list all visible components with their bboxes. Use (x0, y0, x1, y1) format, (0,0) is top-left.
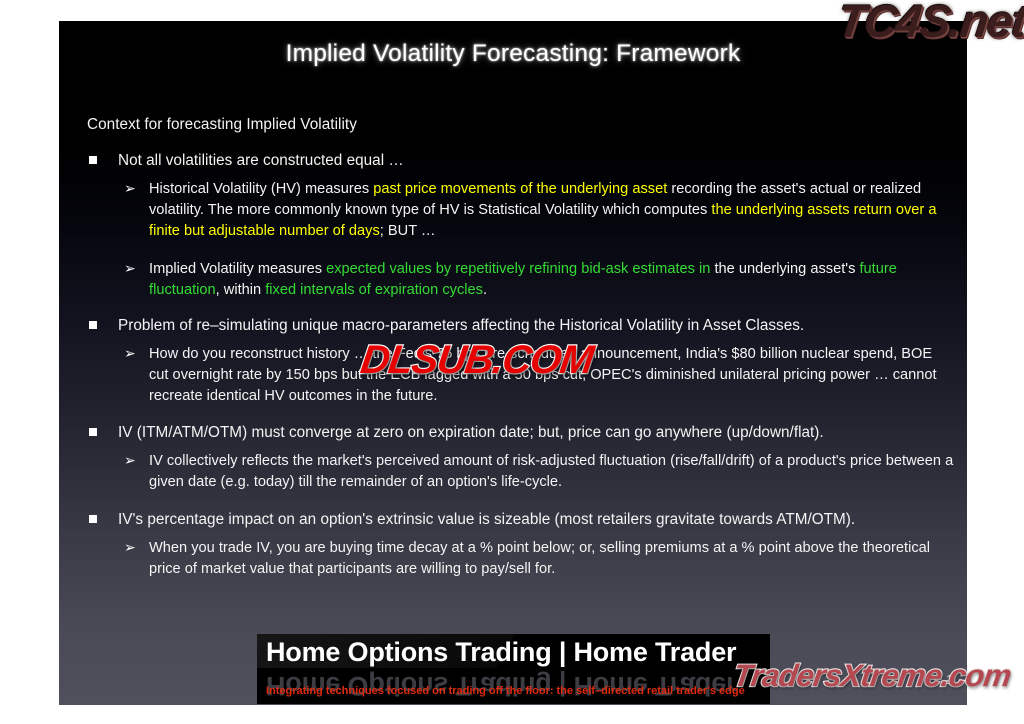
page-title: Implied Volatility Forecasting: Framewor… (59, 40, 967, 68)
bullet-level1-label: IV's percentage impact on an option's ex… (118, 511, 855, 528)
bullet-level2-reconstruct-history: ➢ How do you reconstruct history … the F… (87, 344, 955, 407)
slide-page: Implied Volatility Forecasting: Framewor… (0, 0, 1024, 724)
bullet-level1-iv-converge: IV (ITM/ATM/OTM) must converge at zero o… (87, 423, 955, 443)
bullet-level1-label: Problem of re–simulating unique macro-pa… (118, 317, 804, 334)
bullet-level2-implied-volatility: ➢ Implied Volatility measures expected v… (87, 259, 955, 301)
sub-text-part-2: the underlying asset's (710, 261, 859, 277)
sub-text-part-1: Implied Volatility measures (149, 261, 326, 277)
bullet-level1-problem-resimulating: Problem of re–simulating unique macro-pa… (87, 316, 955, 336)
footer-banner: Home Options Trading | Home Trader Home … (257, 634, 770, 704)
highlight-green-1: expected values by repetitively refining… (326, 261, 710, 277)
bullet-level2-iv-collectively: ➢ IV collectively reflects the market's … (87, 451, 955, 493)
arrow-bullet-icon: ➢ (124, 178, 136, 198)
arrow-bullet-icon: ➢ (124, 258, 136, 278)
lead-text: Context for forecasting Implied Volatili… (87, 115, 955, 134)
sub-text: When you trade IV, you are buying time d… (149, 540, 930, 577)
bullet-level1-label: IV (ITM/ATM/OTM) must converge at zero o… (118, 424, 824, 441)
highlight-yellow-1: past price movements of the underlying a… (373, 181, 667, 197)
bullet-level2-historical-volatility: ➢ Historical Volatility (HV) measures pa… (87, 179, 955, 242)
sub-text-part-4: . (483, 282, 487, 298)
sub-text-part-3: ; BUT … (380, 223, 436, 239)
slide-body: Context for forecasting Implied Volatili… (59, 101, 967, 621)
arrow-bullet-icon: ➢ (124, 537, 136, 557)
sub-text: How do you reconstruct history … the Fed… (149, 346, 937, 404)
highlight-green-3: fixed intervals of expiration cycles (265, 282, 483, 298)
bullet-level1-iv-percentage-impact: IV's percentage impact on an option's ex… (87, 510, 955, 530)
bullet-level2-when-you-trade-iv: ➢ When you trade IV, you are buying time… (87, 538, 955, 580)
bullet-level1-label: Not all volatilities are constructed equ… (118, 152, 404, 169)
square-bullet-icon (89, 428, 97, 436)
page-number: 1 (927, 673, 953, 687)
square-bullet-icon (89, 156, 97, 164)
banner-tagline: Integrating techniques focused on tradin… (266, 685, 770, 697)
square-bullet-icon (89, 321, 97, 329)
sub-text: IV collectively reflects the market's pe… (149, 453, 953, 490)
slide-canvas: Implied Volatility Forecasting: Framewor… (59, 21, 967, 705)
arrow-bullet-icon: ➢ (124, 450, 136, 470)
sub-text-part-3: , within (216, 282, 266, 298)
sub-text-part-1: Historical Volatility (HV) measures (149, 181, 373, 197)
bullet-level1-not-all-volatilities: Not all volatilities are constructed equ… (87, 151, 955, 171)
square-bullet-icon (89, 515, 97, 523)
banner-title: Home Options Trading | Home Trader (266, 637, 766, 668)
arrow-bullet-icon: ➢ (124, 343, 136, 363)
